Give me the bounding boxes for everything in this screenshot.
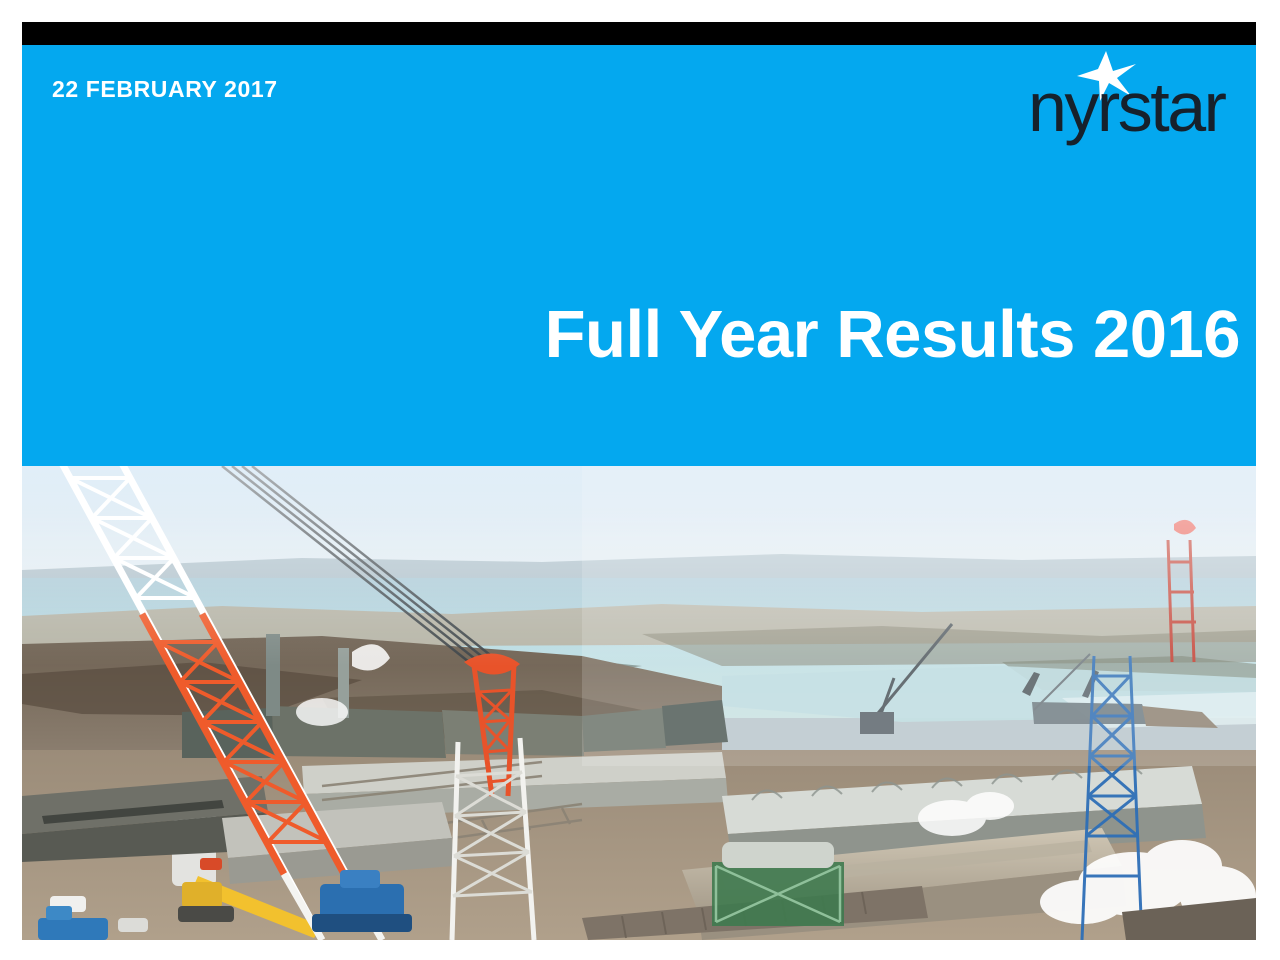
presentation-slide: 22 FEBRUARY 2017 Full Year Results 2016 … <box>0 0 1280 960</box>
title-banner: 22 FEBRUARY 2017 Full Year Results 2016 … <box>22 45 1256 466</box>
presentation-date: 22 FEBRUARY 2017 <box>52 78 278 101</box>
nyrstar-logo: nyrstar <box>1028 50 1238 145</box>
site-aerial-illustration <box>22 466 1256 940</box>
top-divider-rule <box>22 22 1256 45</box>
hero-photograph <box>22 466 1256 940</box>
page-title: Full Year Results 2016 <box>545 301 1240 368</box>
brand-wordmark: nyrstar <box>1028 72 1238 144</box>
